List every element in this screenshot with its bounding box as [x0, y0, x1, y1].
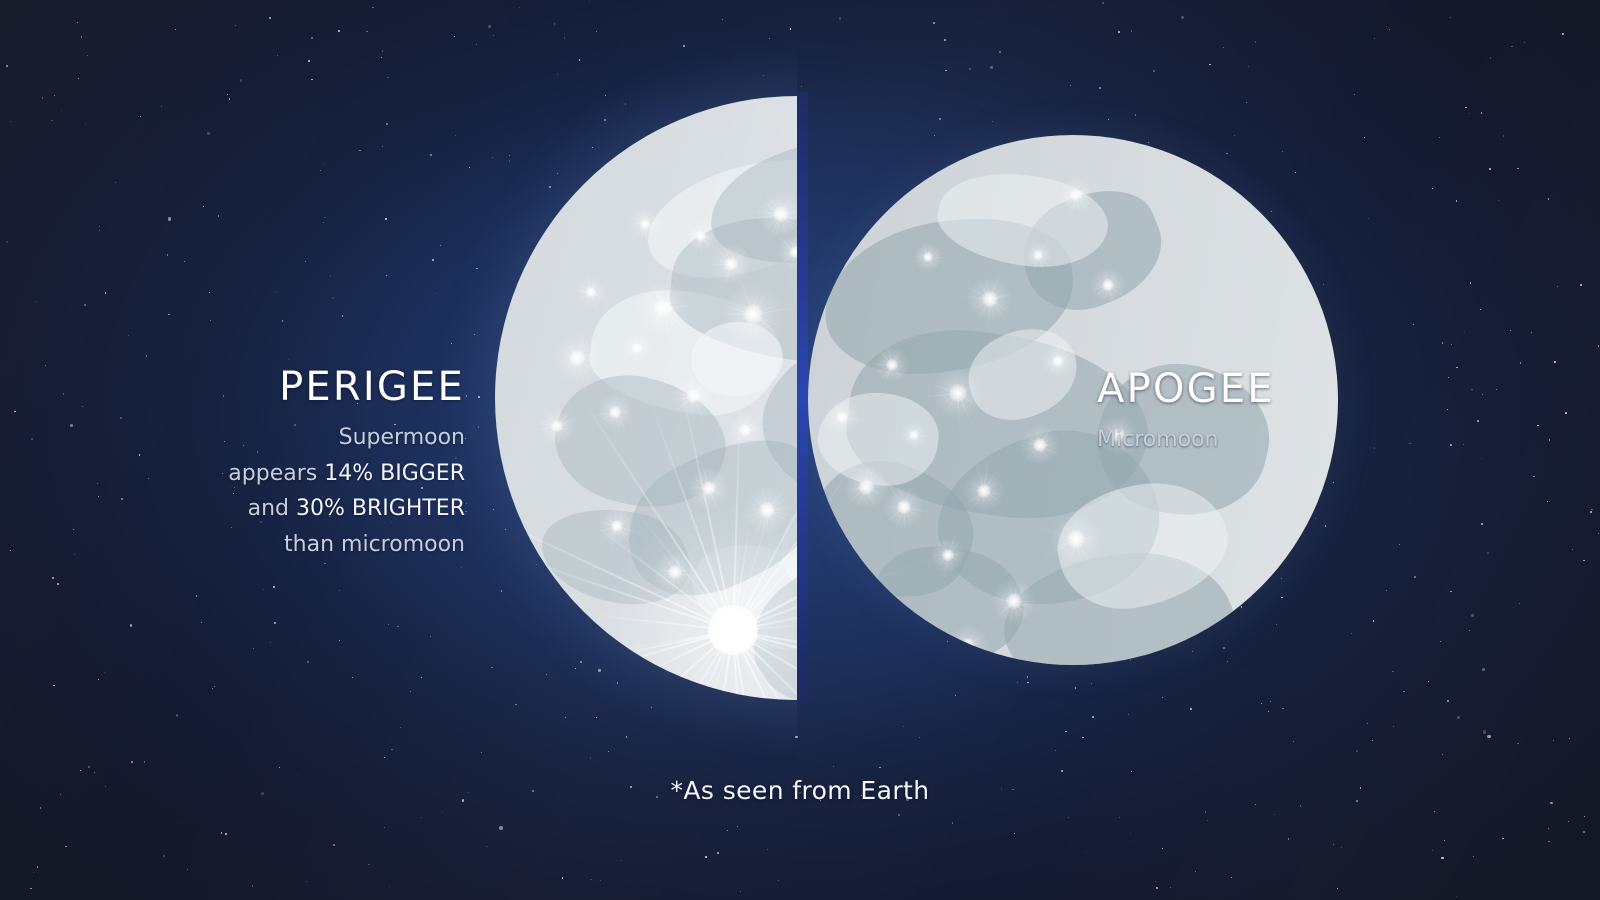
crater	[909, 430, 919, 440]
crater	[609, 406, 621, 418]
perigee-brightness-line: and 30% BRIGHTER	[228, 491, 465, 527]
apogee-description: Micromoon	[1097, 422, 1275, 458]
crater	[708, 605, 758, 655]
crater	[977, 484, 991, 498]
crater	[789, 246, 797, 258]
crater	[942, 549, 954, 561]
crater	[1067, 530, 1085, 548]
infographic-canvas: PERIGEE Supermoon appears 14% BIGGER and…	[0, 0, 1600, 900]
moon-divider-line	[797, 92, 808, 704]
perigee-size-prefix: appears	[228, 461, 324, 486]
perigee-moon-disc	[495, 96, 797, 700]
crater	[611, 520, 623, 532]
crater	[961, 638, 975, 652]
crater	[724, 257, 738, 271]
crater	[773, 206, 789, 222]
perigee-heading: PERIGEE	[228, 366, 465, 408]
crater	[1006, 593, 1022, 609]
crater	[654, 299, 672, 317]
crater	[1033, 438, 1047, 452]
crater	[982, 291, 998, 307]
apogee-label-block: APOGEE Micromoon	[1097, 368, 1275, 458]
crater	[897, 500, 911, 514]
crater	[1102, 279, 1114, 291]
crater	[551, 420, 563, 432]
perigee-label-block: PERIGEE Supermoon appears 14% BIGGER and…	[228, 366, 465, 563]
crater	[743, 304, 763, 324]
footnote-as-seen-from-earth: *As seen from Earth	[0, 776, 1600, 805]
crater	[702, 481, 716, 495]
perigee-size-line: appears 14% BIGGER	[228, 456, 465, 492]
perigee-brightness-emphasis: 30% BRIGHTER	[296, 496, 465, 521]
crater	[886, 359, 898, 371]
crater	[569, 350, 585, 366]
crater	[949, 384, 967, 402]
perigee-brightness-prefix: and	[248, 496, 296, 521]
crater	[923, 252, 933, 262]
apogee-heading: APOGEE	[1097, 368, 1275, 410]
crater	[851, 204, 869, 222]
crater	[1070, 189, 1082, 201]
crater	[686, 389, 700, 403]
perigee-subtitle: Supermoon	[228, 420, 465, 456]
perigee-description: Supermoon appears 14% BIGGER and 30% BRI…	[228, 420, 465, 563]
crater	[858, 479, 874, 495]
perigee-size-emphasis: 14% BIGGER	[324, 461, 465, 486]
crater	[632, 343, 642, 353]
crater	[1033, 250, 1043, 260]
crater	[1052, 355, 1064, 367]
crater-ray	[808, 630, 896, 665]
crater	[640, 219, 650, 229]
crater	[696, 231, 706, 241]
perigee-comparison-line: than micromoon	[228, 527, 465, 563]
apogee-subtitle: Micromoon	[1097, 422, 1275, 458]
crater	[586, 287, 596, 297]
crater	[836, 411, 848, 423]
crater	[739, 424, 751, 436]
